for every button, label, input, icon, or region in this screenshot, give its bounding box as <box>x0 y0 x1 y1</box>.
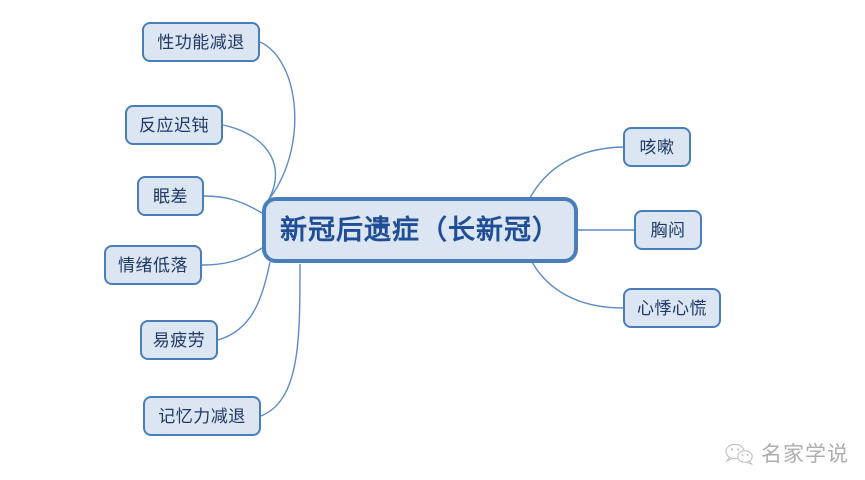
edge-8 <box>532 262 623 308</box>
edge-1 <box>223 125 275 207</box>
left-node-1[interactable]: 反应迟钝 <box>125 105 223 145</box>
edge-6 <box>530 147 623 198</box>
left-node-4[interactable]: 易疲劳 <box>140 320 218 360</box>
right-node-1[interactable]: 胸闷 <box>634 210 702 250</box>
left-node-label: 眠差 <box>153 188 188 205</box>
central-node-label: 新冠后遗症（长新冠） <box>280 217 560 244</box>
mindmap-canvas: 新冠后遗症（长新冠） 性功能减退反应迟钝眠差情绪低落易疲劳记忆力减退 咳嗽胸闷心… <box>0 0 865 480</box>
edge-2 <box>204 196 262 213</box>
right-node-0[interactable]: 咳嗽 <box>623 127 691 167</box>
right-node-label: 胸闷 <box>651 222 686 239</box>
wechat-icon <box>724 442 754 466</box>
watermark: 名家学说 <box>724 442 849 466</box>
edge-0 <box>260 42 295 203</box>
left-node-label: 性功能减退 <box>157 34 245 51</box>
edge-3 <box>202 248 262 265</box>
central-node[interactable]: 新冠后遗症（长新冠） <box>262 197 578 263</box>
left-node-label: 情绪低落 <box>118 257 188 274</box>
edge-4 <box>218 262 270 340</box>
left-node-0[interactable]: 性功能减退 <box>142 22 260 62</box>
left-node-label: 反应迟钝 <box>139 117 209 134</box>
watermark-label: 名家学说 <box>761 444 849 465</box>
left-node-label: 易疲劳 <box>153 332 206 349</box>
left-node-label: 记忆力减退 <box>158 408 246 425</box>
right-node-label: 心悸心慌 <box>637 300 707 317</box>
right-node-2[interactable]: 心悸心慌 <box>623 288 721 328</box>
right-node-label: 咳嗽 <box>640 139 675 156</box>
edge-5 <box>261 264 300 416</box>
left-node-5[interactable]: 记忆力减退 <box>143 396 261 436</box>
left-node-3[interactable]: 情绪低落 <box>104 245 202 285</box>
left-node-2[interactable]: 眠差 <box>137 176 204 216</box>
